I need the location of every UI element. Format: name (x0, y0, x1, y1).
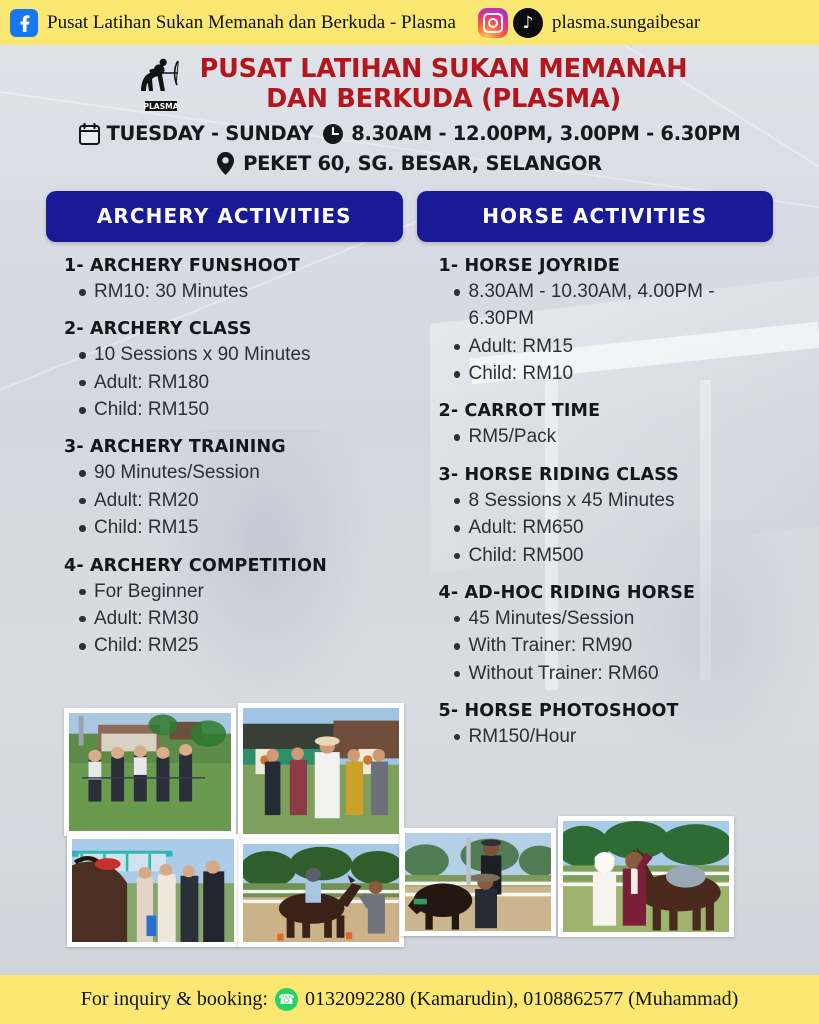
activity-bullet: Child: RM500 (469, 542, 774, 569)
archery-list: 1- ARCHERY FUNSHOOTRM10: 30 Minutes2- AR… (46, 256, 403, 660)
opening-days: TUESDAY - SUNDAY (107, 122, 314, 145)
tiktok-icon[interactable]: ♪ (513, 8, 543, 38)
hours-segment: 8.30AM - 12.00PM, 3.00PM - 6.30PM (322, 122, 740, 145)
activity-bullet: 8.30AM - 10.30AM, 4.00PM - 6.30PM (469, 278, 774, 333)
whatsapp-icon[interactable]: ☎ (275, 988, 298, 1011)
activity-item: 3- HORSE RIDING CLASS8 Sessions x 45 Min… (417, 465, 774, 569)
activity-title: 2- CARROT TIME (417, 401, 774, 421)
facebook-page-name: Pusat Latihan Sukan Memanah dan Berkuda … (47, 12, 456, 34)
activity-bullet: RM10: 30 Minutes (94, 278, 403, 305)
instagram-icon[interactable] (478, 8, 508, 38)
activity-item: 2- ARCHERY CLASS10 Sessions x 90 Minutes… (46, 319, 403, 423)
horse-heading: HORSE ACTIVITIES (417, 191, 774, 242)
activity-bullet: 90 Minutes/Session (94, 459, 403, 486)
activity-bullets: 45 Minutes/SessionWith Trainer: RM90With… (417, 605, 774, 687)
footer-prefix: For inquiry & booking: (81, 988, 268, 1011)
activity-item: 1- HORSE JOYRIDE8.30AM - 10.30AM, 4.00PM… (417, 256, 774, 387)
address-line: PEKET 60, SG. BESAR, SELANGOR (0, 152, 819, 175)
photo-collage (64, 703, 754, 948)
facebook-icon[interactable] (10, 9, 38, 37)
location-pin-icon (217, 152, 234, 175)
schedule-line: TUESDAY - SUNDAY 8.30AM - 12.00PM, 3.00P… (0, 122, 819, 145)
photo-archery-group-targets (238, 703, 404, 839)
activity-item: 2- CARROT TIMERM5/Pack (417, 401, 774, 450)
page-title-line1: PUSAT LATIHAN SUKAN MEMANAH (200, 54, 688, 84)
photo-horse-handler-arena (400, 828, 556, 936)
days-segment: TUESDAY - SUNDAY (79, 122, 314, 145)
activity-title: 1- ARCHERY FUNSHOOT (46, 256, 403, 276)
horse-list: 1- HORSE JOYRIDE8.30AM - 10.30AM, 4.00PM… (417, 256, 774, 750)
activity-title: 1- HORSE JOYRIDE (417, 256, 774, 276)
activity-title: 4- ARCHERY COMPETITION (46, 556, 403, 576)
archery-heading: ARCHERY ACTIVITIES (46, 191, 403, 242)
activity-bullet: Without Trainer: RM60 (469, 660, 774, 687)
plasma-mounted-archer-logo: PLASMA (132, 53, 190, 115)
archery-column: ARCHERY ACTIVITIES 1- ARCHERY FUNSHOOTRM… (46, 191, 403, 750)
activity-title: 2- ARCHERY CLASS (46, 319, 403, 339)
activity-bullets: 8.30AM - 10.30AM, 4.00PM - 6.30PMAdult: … (417, 278, 774, 387)
activity-bullet: 8 Sessions x 45 Minutes (469, 487, 774, 514)
activity-bullet: Adult: RM650 (469, 514, 774, 541)
header: PLASMA PUSAT LATIHAN SUKAN MEMANAH DAN B… (0, 45, 819, 175)
calendar-icon (79, 123, 100, 145)
activity-bullets: 90 Minutes/SessionAdult: RM20Child: RM15 (46, 459, 403, 541)
activity-bullet: With Trainer: RM90 (469, 632, 774, 659)
photo-horse-riding-lesson (238, 839, 404, 947)
photo-archery-kids-field (64, 708, 236, 836)
activity-title: 3- HORSE RIDING CLASS (417, 465, 774, 485)
activity-bullet: RM5/Pack (469, 423, 774, 450)
activity-bullet: Child: RM150 (94, 396, 403, 423)
clock-icon (322, 123, 344, 145)
opening-hours: 8.30AM - 12.00PM, 3.00PM - 6.30PM (351, 122, 740, 145)
footer-contacts: 0132092280 (Kamarudin), 0108862577 (Muha… (305, 988, 738, 1011)
activity-bullet: 45 Minutes/Session (469, 605, 774, 632)
activity-item: 4- ARCHERY COMPETITIONFor BeginnerAdult:… (46, 556, 403, 660)
activity-item: 1- ARCHERY FUNSHOOTRM10: 30 Minutes (46, 256, 403, 305)
activity-bullets: 8 Sessions x 45 MinutesAdult: RM650Child… (417, 487, 774, 569)
activity-bullets: RM10: 30 Minutes (46, 278, 403, 305)
activity-bullet: For Beginner (94, 578, 403, 605)
activity-bullet: Adult: RM180 (94, 369, 403, 396)
activity-bullet: Child: RM25 (94, 632, 403, 659)
photo-horse-visitors-stable (67, 834, 239, 947)
footer-contact-bar: For inquiry & booking: ☎ 0132092280 (Kam… (0, 975, 819, 1024)
activity-title: 3- ARCHERY TRAINING (46, 437, 403, 457)
activity-title: 4- AD-HOC RIDING HORSE (417, 583, 774, 603)
activity-bullets: 10 Sessions x 90 MinutesAdult: RM180Chil… (46, 341, 403, 423)
photo-wedding-couple-horse (558, 816, 734, 937)
social-bar: Pusat Latihan Sukan Memanah dan Berkuda … (0, 0, 819, 45)
instagram-handle: plasma.sungaibesar (552, 12, 700, 34)
activity-bullet: Child: RM15 (94, 514, 403, 541)
horse-column: HORSE ACTIVITIES 1- HORSE JOYRIDE8.30AM … (417, 191, 774, 750)
activity-bullet: Adult: RM20 (94, 487, 403, 514)
activity-item: 3- ARCHERY TRAINING90 Minutes/SessionAdu… (46, 437, 403, 541)
activities-columns: ARCHERY ACTIVITIES 1- ARCHERY FUNSHOOTRM… (0, 191, 819, 750)
page-title-line2: DAN BERKUDA (PLASMA) (200, 84, 688, 114)
title-row: PLASMA PUSAT LATIHAN SUKAN MEMANAH DAN B… (0, 53, 819, 115)
page-title: PUSAT LATIHAN SUKAN MEMANAH DAN BERKUDA … (200, 54, 688, 114)
activity-item: 4- AD-HOC RIDING HORSE45 Minutes/Session… (417, 583, 774, 687)
activity-bullets: RM5/Pack (417, 423, 774, 450)
activity-bullet: Adult: RM15 (469, 333, 774, 360)
activity-bullets: For BeginnerAdult: RM30Child: RM25 (46, 578, 403, 660)
activity-bullet: Adult: RM30 (94, 605, 403, 632)
svg-text:PLASMA: PLASMA (143, 102, 178, 111)
activity-bullet: Child: RM10 (469, 360, 774, 387)
address-text: PEKET 60, SG. BESAR, SELANGOR (243, 152, 602, 175)
activity-bullet: 10 Sessions x 90 Minutes (94, 341, 403, 368)
